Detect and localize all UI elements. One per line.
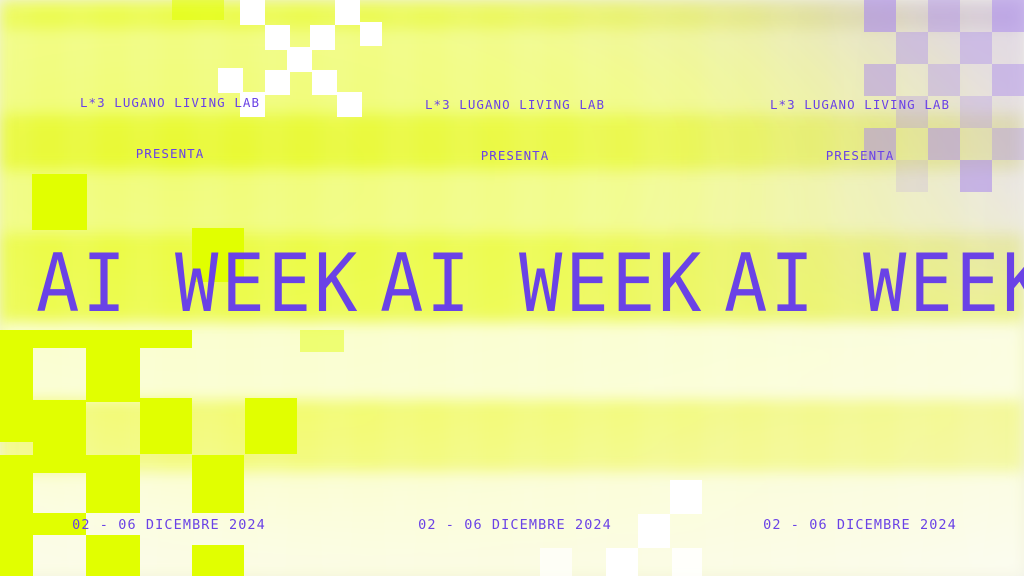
poster-canvas: L*3 LUGANO LIVING LAB PRESENTA AI WEEK 0… [0,0,1024,576]
footer-line1: 02 - 06 DICEMBRE 2024 [350,516,680,535]
kicker-block-2: L*3 LUGANO LIVING LAB PRESENTA [355,62,675,198]
kicker-line2: PRESENTA [355,147,675,164]
footer-block-3: 02 - 06 DICEMBRE 2024 @ASILO CIANI LUGAN… [695,478,1024,576]
kicker-line1: L*3 LUGANO LIVING LAB [355,96,675,113]
kicker-block-1: L*3 LUGANO LIVING LAB PRESENTA [10,60,330,196]
title-block-3: AI WEEK [724,242,1024,325]
footer-line1: 02 - 06 DICEMBRE 2024 [4,516,334,535]
title-block-2: AI WEEK [380,242,704,325]
title-block-1: AI WEEK [36,242,360,325]
kicker-line1: L*3 LUGANO LIVING LAB [10,94,330,111]
kicker-line2: PRESENTA [10,145,330,162]
kicker-line2: PRESENTA [700,147,1020,164]
footer-block-2: 02 - 06 DICEMBRE 2024 @ASILO CIANI LUGAN… [350,478,680,576]
kicker-block-3: L*3 LUGANO LIVING LAB PRESENTA [700,62,1020,198]
footer-block-1: 02 - 06 DICEMBRE 2024 @ASILO CIANI LUGAN… [4,478,334,576]
kicker-line1: L*3 LUGANO LIVING LAB [700,96,1020,113]
footer-line1: 02 - 06 DICEMBRE 2024 [695,516,1024,535]
